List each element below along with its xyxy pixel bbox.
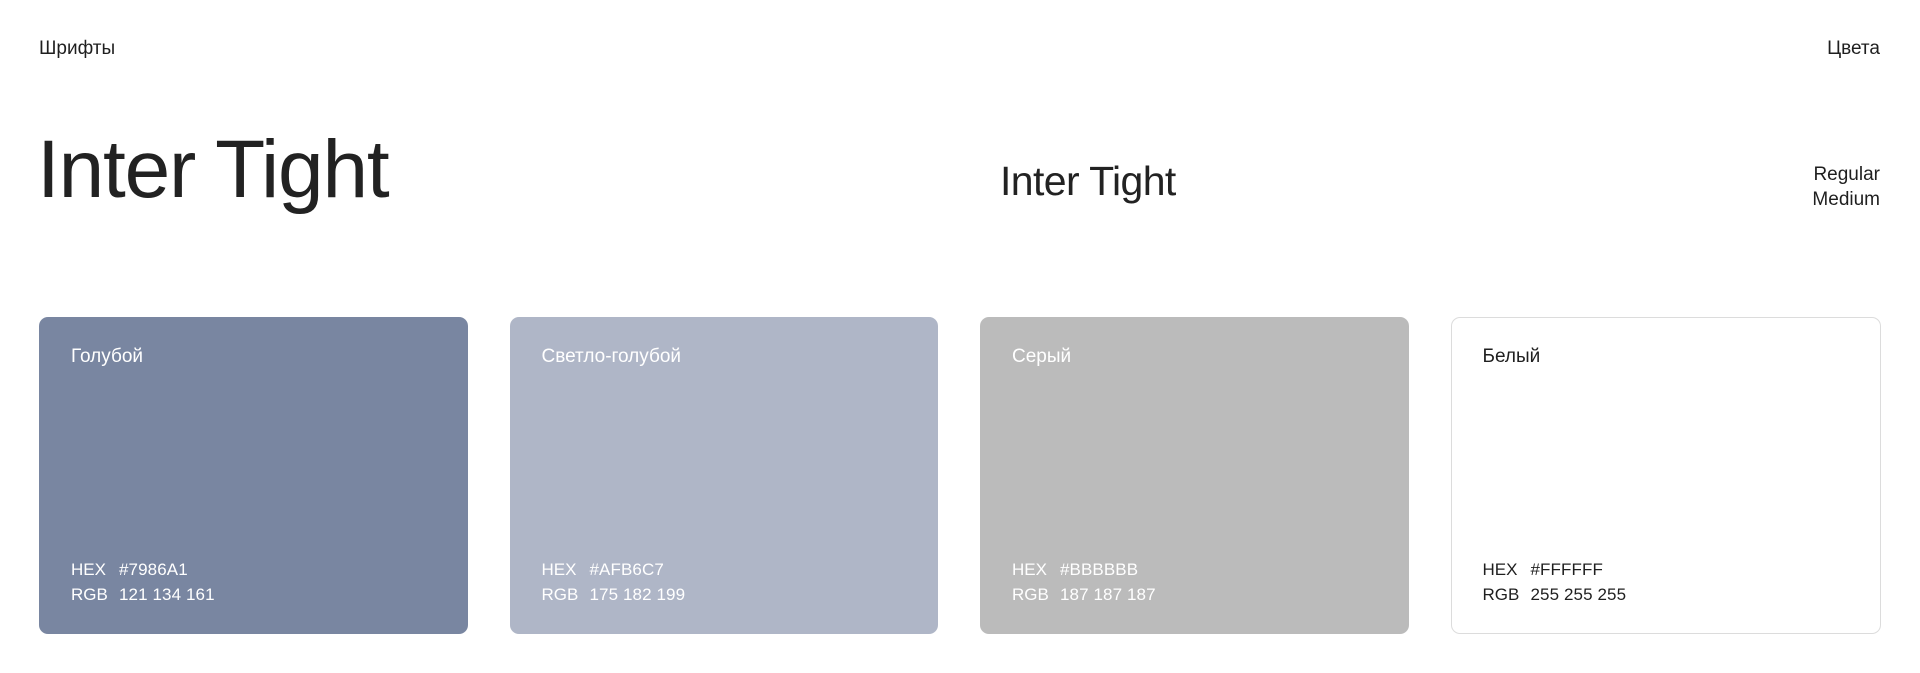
color-rgb-row: RGB 175 182 199	[542, 582, 686, 607]
color-swatch-list: Голубой HEX #7986A1 RGB 121 134 161 Свет…	[39, 317, 1881, 634]
font-display-name: Inter Tight	[37, 120, 388, 220]
color-hex-row: HEX #BBBBBB	[1012, 557, 1156, 582]
color-name: Белый	[1483, 345, 1541, 369]
rgb-value: 121 134 161	[119, 582, 215, 607]
color-swatch-card[interactable]: Голубой HEX #7986A1 RGB 121 134 161	[39, 317, 468, 634]
color-swatch-card[interactable]: Белый HEX #FFFFFF RGB 255 255 255	[1451, 317, 1882, 634]
color-name: Светло-голубой	[542, 345, 682, 369]
hex-label: HEX	[1012, 557, 1060, 582]
rgb-label: RGB	[1483, 582, 1531, 607]
hex-value: #7986A1	[119, 557, 188, 582]
font-weight-medium: Medium	[1812, 187, 1880, 212]
section-label-colors: Цвета	[1827, 38, 1880, 60]
color-values: HEX #AFB6C7 RGB 175 182 199	[542, 557, 686, 607]
style-guide-page: Шрифты Цвета Inter Tight Inter Tight Reg…	[0, 0, 1920, 673]
color-hex-row: HEX #7986A1	[71, 557, 215, 582]
hex-value: #BBBBBB	[1060, 557, 1138, 582]
color-rgb-row: RGB 121 134 161	[71, 582, 215, 607]
color-hex-row: HEX #FFFFFF	[1483, 557, 1627, 582]
color-swatch-card[interactable]: Серый HEX #BBBBBB RGB 187 187 187	[980, 317, 1409, 634]
hex-value: #FFFFFF	[1531, 557, 1603, 582]
rgb-value: 175 182 199	[590, 582, 686, 607]
rgb-value: 255 255 255	[1531, 582, 1627, 607]
color-values: HEX #BBBBBB RGB 187 187 187	[1012, 557, 1156, 607]
font-weight-list: Regular Medium	[1812, 162, 1880, 212]
color-rgb-row: RGB 187 187 187	[1012, 582, 1156, 607]
color-swatch-card[interactable]: Светло-голубой HEX #AFB6C7 RGB 175 182 1…	[510, 317, 939, 634]
rgb-label: RGB	[1012, 582, 1060, 607]
section-label-fonts: Шрифты	[39, 38, 115, 60]
hex-label: HEX	[71, 557, 119, 582]
hex-label: HEX	[1483, 557, 1531, 582]
color-name: Серый	[1012, 345, 1071, 369]
font-sample-name: Inter Tight	[1000, 157, 1176, 205]
color-values: HEX #FFFFFF RGB 255 255 255	[1483, 557, 1627, 607]
rgb-value: 187 187 187	[1060, 582, 1156, 607]
color-values: HEX #7986A1 RGB 121 134 161	[71, 557, 215, 607]
rgb-label: RGB	[71, 582, 119, 607]
color-hex-row: HEX #AFB6C7	[542, 557, 686, 582]
rgb-label: RGB	[542, 582, 590, 607]
hex-value: #AFB6C7	[590, 557, 664, 582]
typography-specimen-row: Inter Tight Inter Tight Regular Medium	[0, 120, 1920, 240]
font-weight-regular: Regular	[1812, 162, 1880, 187]
color-rgb-row: RGB 255 255 255	[1483, 582, 1627, 607]
hex-label: HEX	[542, 557, 590, 582]
color-name: Голубой	[71, 345, 143, 369]
